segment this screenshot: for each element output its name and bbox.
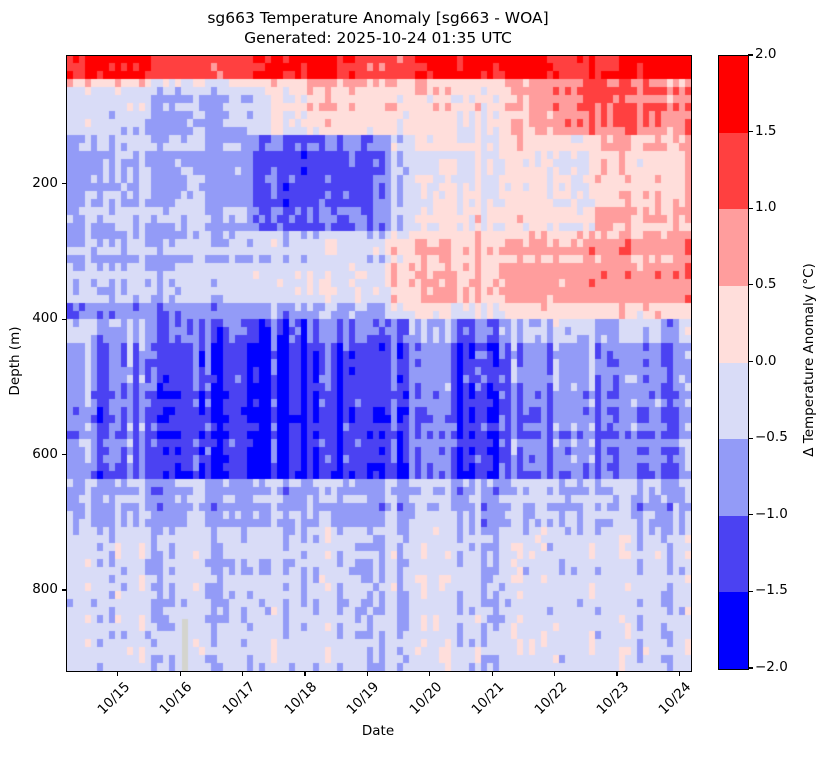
colorbar-tick-label: −2.0 [755,659,788,675]
colorbar-tick-mark [748,208,753,209]
y-axis-label: Depth (m) [7,311,23,411]
colorbar-tick-label: 2.0 [755,46,776,62]
heatmap-plot-area [66,55,692,672]
colorbar-tick-mark [748,591,753,592]
x-tick-mark [304,671,305,676]
colorbar-label: Δ Temperature Anomaly (°C) [801,250,817,470]
colorbar-tick-label: −0.5 [755,429,788,445]
colorbar-tick-mark [748,284,753,285]
heatmap-image [67,56,691,671]
chart-title-subtitle: Generated: 2025-10-24 01:35 UTC [66,28,690,48]
colorbar-band [719,133,748,210]
colorbar-tick-label: 0.5 [755,276,776,292]
x-tick-mark [117,671,118,676]
x-tick-mark [429,671,430,676]
colorbar-tick-mark [748,361,753,362]
colorbar-band [719,439,748,516]
colorbar-tick-label: 1.5 [755,123,776,139]
colorbar-tick-label: −1.5 [755,582,788,598]
figure-canvas: sg663 Temperature Anomaly [sg663 - WOA] … [0,0,828,748]
colorbar-band [719,56,748,133]
colorbar-tick-label: 0.0 [755,353,776,369]
colorbar-band [719,209,748,286]
y-tick-label: 400 [32,310,58,326]
y-tick-mark [62,183,67,184]
x-tick-mark [554,671,555,676]
x-tick-mark [180,671,181,676]
y-tick-mark [62,454,67,455]
x-tick-mark [367,671,368,676]
y-tick-label: 800 [32,581,58,597]
colorbar [718,55,749,670]
x-axis-label: Date [66,723,690,739]
y-tick-mark [62,319,67,320]
x-tick-mark [616,671,617,676]
x-tick-mark [492,671,493,676]
colorbar-band [719,363,748,440]
colorbar-tick-label: 1.0 [755,199,776,215]
chart-title-line1: sg663 Temperature Anomaly [sg663 - WOA] [66,8,690,28]
colorbar-tick-mark [748,514,753,515]
y-tick-label: 200 [32,175,58,191]
colorbar-band [719,592,748,669]
colorbar-tick-label: −1.0 [755,506,788,522]
colorbar-tick-mark [748,131,753,132]
y-tick-mark [62,589,67,590]
colorbar-tick-mark [748,667,753,668]
y-tick-label: 600 [32,446,58,462]
colorbar-tick-mark [748,438,753,439]
x-tick-mark [242,671,243,676]
x-tick-mark [679,671,680,676]
colorbar-band [719,286,748,363]
colorbar-tick-mark [748,54,753,55]
chart-title: sg663 Temperature Anomaly [sg663 - WOA] … [66,8,690,48]
colorbar-band [719,516,748,593]
